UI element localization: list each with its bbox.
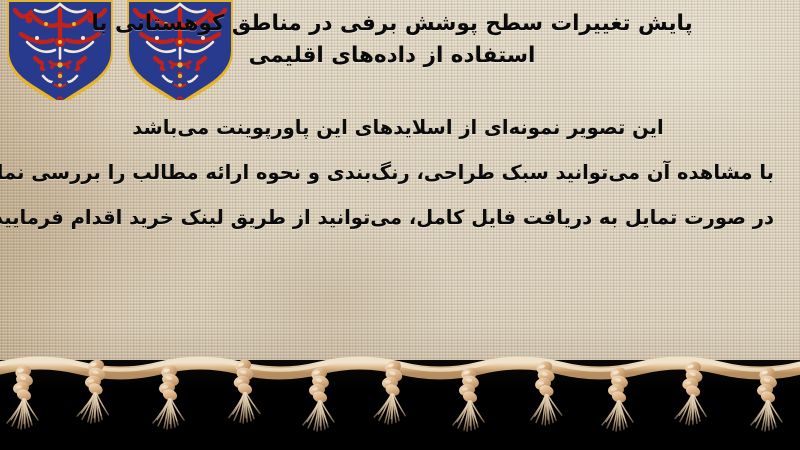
body-line-3: در صورت تمایل به دریافت فایل کامل، می‌تو… [22,195,774,240]
body-line-2: با مشاهده آن می‌توانید سبک طراحی، رنگ‌بن… [22,150,774,195]
slide-title-line-2: استفاده از داده‌های اقلیمی [249,43,536,68]
carpet-fringe-tassels-decoration [0,352,800,450]
body-line-1: این تصویر نمونه‌ای از اسلایدهای این پاور… [22,105,774,150]
slide-title: پایش تغییرات سطح پوشش برفی در مناطق کوهس… [12,8,772,72]
slide-body-text: این تصویر نمونه‌ای از اسلایدهای این پاور… [22,105,774,240]
slide-canvas: پایش تغییرات سطح پوشش برفی در مناطق کوهس… [0,0,800,450]
slide-title-line-1: پایش تغییرات سطح پوشش برفی در مناطق کوهس… [91,11,692,36]
